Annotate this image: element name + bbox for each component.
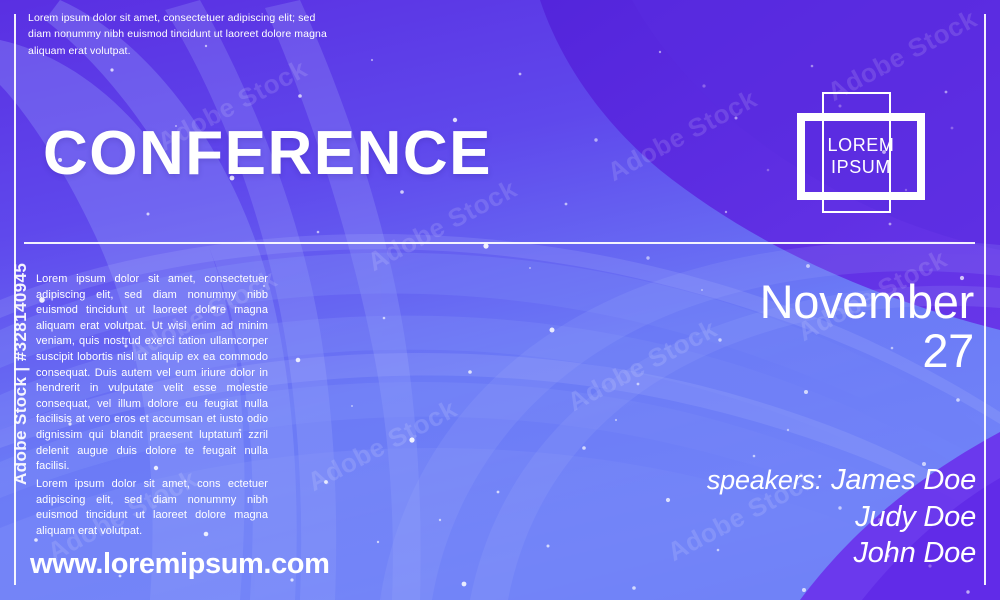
speaker-row: speakers:James Doe — [496, 462, 976, 499]
event-day: 27 — [554, 327, 974, 376]
speaker-name: James Doe — [831, 464, 976, 496]
speaker-name: John Doe — [853, 537, 976, 569]
logo-mark: LOREM IPSUM — [790, 85, 935, 220]
event-date: November 27 — [554, 278, 974, 376]
intro-paragraph: Lorem ipsum dolor sit amet, consectetuer… — [28, 10, 328, 59]
speakers-block: speakers:James Doe Judy Doe John Doe — [496, 462, 976, 572]
event-month: November — [760, 275, 974, 328]
website-url[interactable]: www.loremipsum.com — [30, 548, 330, 581]
divider-rule — [24, 242, 975, 244]
logo-text-line2: IPSUM — [831, 157, 891, 179]
conference-poster: Adobe Stock Adobe Stock Adobe Stock Adob… — [0, 0, 1000, 600]
frame-line-right — [984, 14, 986, 585]
speaker-row: Judy Doe — [496, 499, 976, 536]
body-copy: Lorem ipsum dolor sit amet, consectetuer… — [36, 272, 268, 539]
stock-id-watermark: Adobe Stock | #328140945 — [11, 295, 31, 485]
body-paragraph-1: Lorem ipsum dolor sit amet, consectetuer… — [36, 272, 268, 475]
logo-text-line1: LOREM — [827, 135, 894, 157]
body-paragraph-2: Lorem ipsum dolor sit amet, cons ectetue… — [36, 477, 268, 539]
speaker-row: John Doe — [496, 535, 976, 572]
speakers-label: speakers: — [707, 465, 822, 495]
speaker-name: Judy Doe — [855, 501, 976, 533]
logo-text: LOREM IPSUM — [797, 113, 925, 200]
page-title: CONFERENCE — [43, 123, 492, 185]
